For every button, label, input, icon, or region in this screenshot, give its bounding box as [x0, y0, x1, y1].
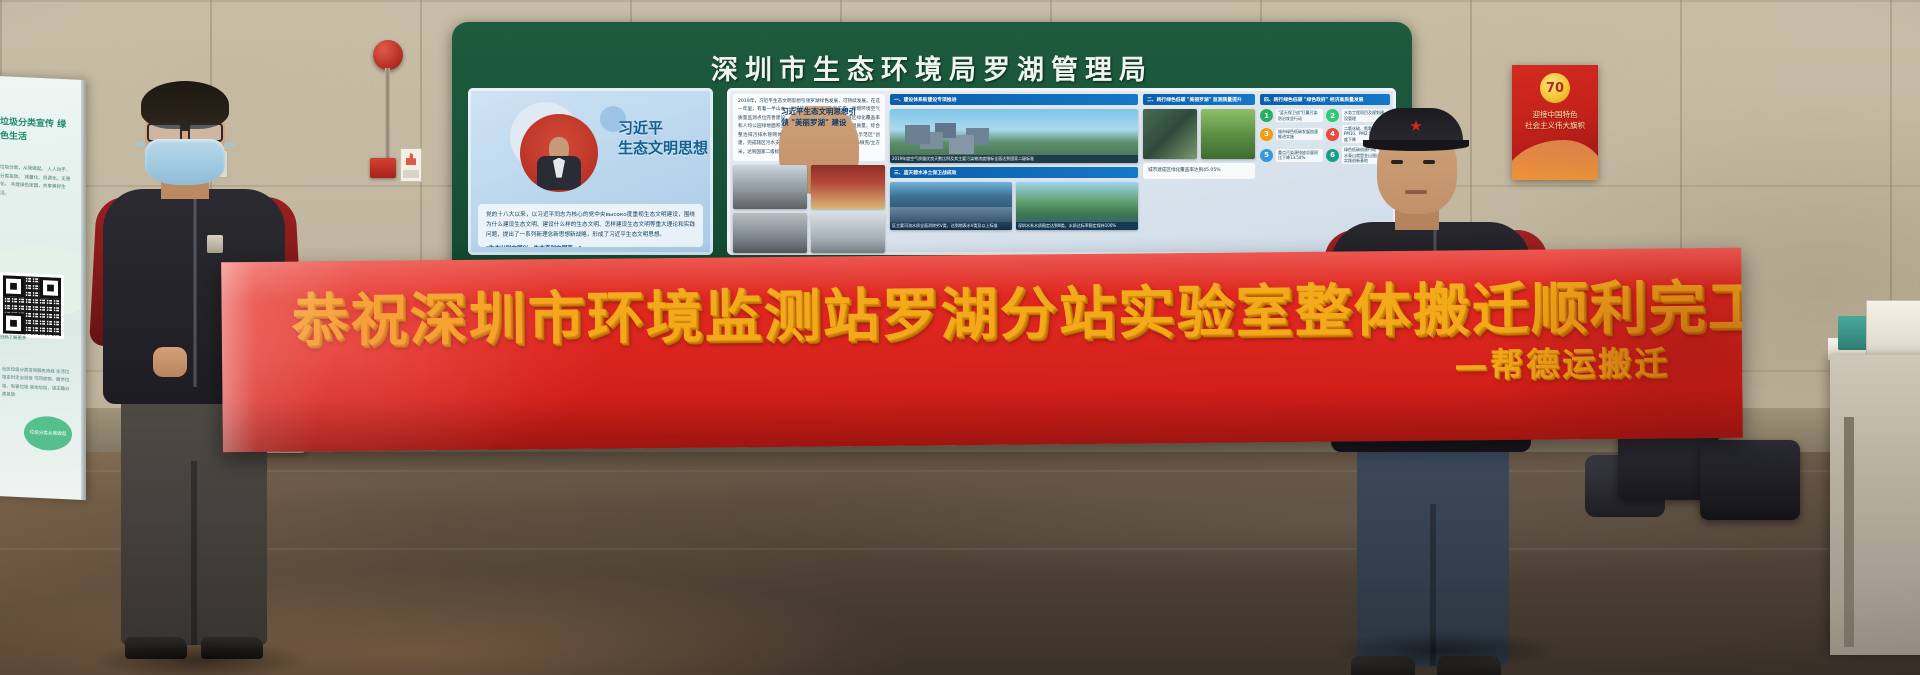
poster-left-body: 党的十八大以来，以习近平同志为核心的党中央высоко度重视生态文明建设，围绕为… — [478, 204, 703, 247]
poster-xi-thought: 习近平 生态文明思想 党的十八大以来，以习近平同志为核心的党中央высоко度重… — [468, 88, 713, 255]
cap-icon — [1369, 108, 1463, 146]
person-left-hand — [153, 347, 187, 377]
person-left-badge — [207, 235, 223, 253]
poster-photo-hex — [1143, 109, 1197, 159]
fire-alarm-call-point — [370, 158, 396, 178]
rollup-title: 垃圾分类宣传 绿色生活 — [0, 116, 72, 146]
rollup-frame-post — [81, 76, 86, 500]
poster-left-para: 党的十八大以来，以习近平同志为核心的党中央высоко度重视生态文明建设，围绕为… — [486, 211, 695, 241]
badge-text: 重点污染源排放总量同比下降13.54% — [1276, 149, 1323, 162]
sign-caption-strip — [403, 170, 419, 178]
badge-number: 5 — [1260, 149, 1273, 162]
conduit-pipe — [385, 68, 390, 163]
person-left-shoe — [125, 637, 187, 659]
pointing-hand-icon — [406, 153, 416, 165]
person-right-eye — [1423, 160, 1435, 164]
poster-left-quote: "生态兴则文明兴，生态衰则文明衰。" — [486, 245, 695, 247]
person-right-eye — [1391, 160, 1403, 164]
side-table — [1830, 355, 1920, 655]
poster-left-heading-line2: 生态文明思想 — [618, 138, 708, 158]
board-title: 深圳市生态环境局罗湖管理局 — [452, 48, 1412, 87]
poster-photo-caption: 2019年度空气质量优良天数比例及其主要污染物浓度指标全面达到国家二级标准 — [890, 155, 1138, 163]
badge-text: "蓝天保卫战"打赢污染防治攻坚行动 — [1276, 109, 1323, 122]
poster-photo-river: 区主要河流水质全面消除劣V类，达到地表水Ⅴ类及以上标准 — [890, 182, 1012, 230]
poster-right-note: 城市建成区绿化覆盖率达到45.05% — [1143, 163, 1255, 179]
list-item: 1 "蓝天保卫战"打赢污染防治攻坚行动 — [1260, 109, 1323, 122]
badge-number: 1 — [1260, 109, 1273, 122]
list-item: 3 城市绿色低碳发展加速推进实施 — [1260, 125, 1323, 143]
qr-code-icon[interactable] — [0, 272, 64, 339]
rollup-bubble: 垃圾分类从我做起 — [24, 415, 72, 451]
star-icon — [1410, 120, 1422, 132]
poster-photo-hall — [811, 165, 885, 209]
fire-alarm-bell-icon — [373, 40, 403, 70]
banner-fold — [221, 262, 257, 452]
poster-photo-street — [733, 165, 807, 209]
alarm-instruction-sign — [400, 148, 422, 182]
person-right-shoe — [1437, 656, 1501, 675]
rollup-body: 垃圾分类，从我做起。 人人动手，分类投放。 减量化、资源化、无害化。 共建绿色家… — [0, 164, 72, 202]
poster-photo-caption: 深圳水系水质稳定达到Ⅲ类，水质达标率稳定保持100% — [1016, 222, 1138, 230]
face-mask-icon — [145, 139, 225, 185]
poster-section1-title: 一、建设体系新建设专项推进 — [890, 94, 1138, 105]
person-left-hair — [141, 81, 229, 129]
badge-number: 3 — [1260, 128, 1273, 141]
qr-caption: 扫码了解更多 — [0, 334, 26, 341]
poster-photo-caption: 区主要河流水质全面消除劣V类，达到地表水Ⅴ类及以上标准 — [890, 222, 1012, 230]
person-left-zipper — [194, 197, 197, 387]
congratulatory-banner: 恭祝深圳市环境监测站罗湖分站实验室整体搬迁顺利完工! —帮德运搬迁 — [221, 248, 1743, 453]
poster-section4-title: 四、践行绿色低碳 "绿色政府" 经济高质量发展 — [1260, 94, 1390, 105]
rollup-banner: 垃圾分类宣传 绿色生活 垃圾分类，从我做起。 人人动手，分类投放。 减量化、资源… — [0, 76, 86, 500]
poster-beautiful-luohu: 习近平生态文明思想引领 "美丽罗湖" 建设 2019年，习近平生态文明思想引领罗… — [727, 88, 1396, 255]
poster-photo-people — [733, 213, 807, 253]
black-duffel-bag — [1700, 440, 1800, 520]
poster-section2-title: 二、践行绿色低碳 "美丽罗湖" 监测质量提升 — [1143, 94, 1255, 105]
anniversary-badge: 70 — [1540, 73, 1570, 103]
portrait-photo — [520, 114, 598, 192]
banner-signature: —帮德运搬迁 — [1454, 336, 1670, 386]
list-item: 5 重点污染源排放总量同比下降13.54% — [1260, 146, 1323, 164]
person-right-mouth — [1405, 190, 1427, 194]
poster-photo-lab — [811, 213, 885, 253]
poster-left-heading-line1: 习近平 — [618, 118, 708, 138]
display-board: 深圳市生态环境局罗湖管理局 习近平 生态文明思想 党的十八大以来，以习近平同志为… — [452, 22, 1412, 267]
badge-text: 城市绿色低碳发展加速推进实施 — [1276, 128, 1323, 141]
white-box — [1866, 300, 1920, 356]
table-leg — [1844, 417, 1854, 647]
poster-photo-city: 2019年度空气质量优良天数比例及其主要污染物浓度指标全面达到国家二级标准 — [890, 109, 1138, 163]
person-right-shoe — [1351, 656, 1415, 675]
poster-section3-title: 三、蓝天碧水净土保卫战成效 — [890, 167, 1138, 178]
person-right-trousers — [1357, 444, 1509, 666]
person-left-shoe — [201, 637, 263, 659]
poster-photo-green — [1201, 109, 1255, 159]
photo-scene: 垃圾分类宣传 绿色生活 垃圾分类，从我做起。 人人动手，分类投放。 减量化、资源… — [0, 0, 1920, 675]
poster-photo-lake: 深圳水系水质稳定达到Ⅲ类，水质达标率稳定保持100% — [1016, 182, 1138, 230]
glasses-icon — [147, 123, 223, 139]
poster-left-heading: 习近平 生态文明思想 — [618, 118, 708, 159]
rollup-footer: 社区垃圾分类咨询服务热线 生活垃圾定时定点投放 可回收物、厨余垃圾、有害垃圾 其… — [2, 366, 72, 403]
